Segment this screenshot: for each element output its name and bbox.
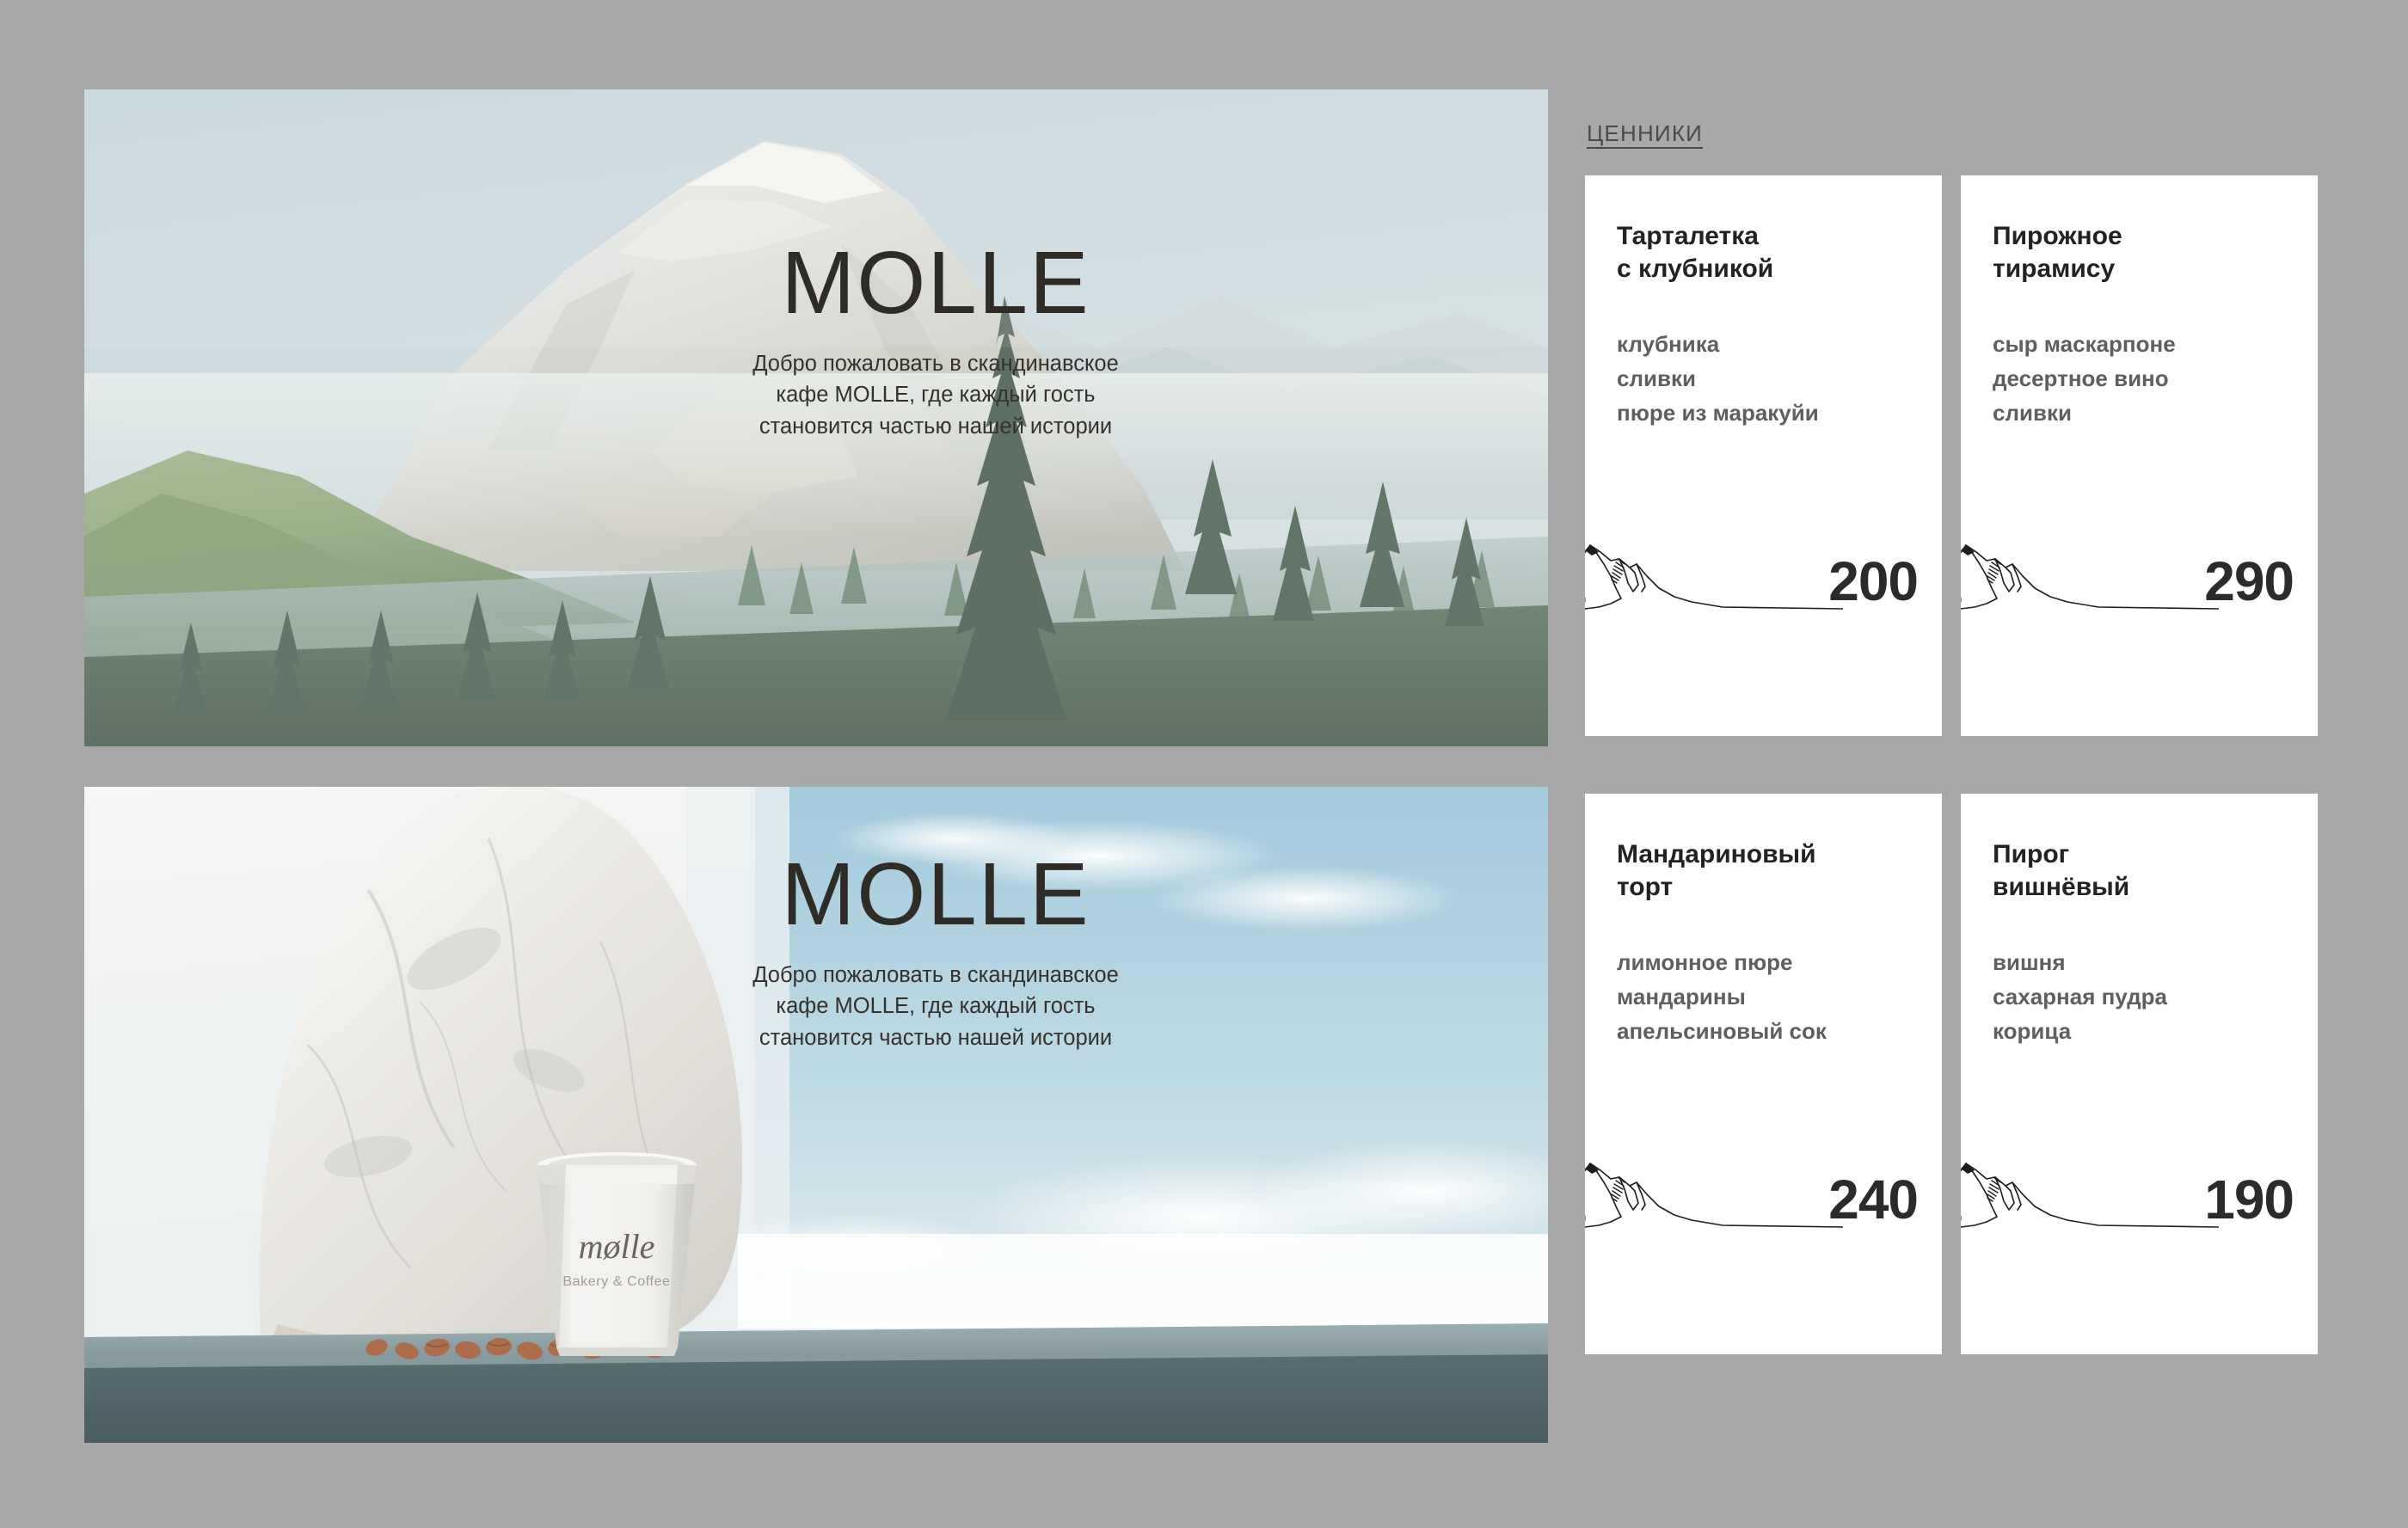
mountain-line-icon	[1961, 1157, 2219, 1260]
pricetag-ingredients: сыр маскарпоне десертное вино сливки	[1993, 327, 2318, 431]
pricetag-title-line-1: Пирожное	[1993, 220, 2318, 253]
pricetag-ingredients: клубника сливки пюре из маракуйи	[1617, 327, 1942, 431]
pricetag-title: Пирожное тирамису	[1993, 220, 2318, 286]
list-item: мандарины	[1617, 979, 1942, 1014]
marble-rock-coffee-cup-photo: mølle Bakery & Coffee	[84, 787, 1548, 1443]
pricetag-card-body: Пирог вишнёвый вишня сахарная пудра кори…	[1993, 838, 2318, 1354]
pricetag-price: 190	[2204, 1172, 2294, 1227]
list-item: лимонное пюре	[1617, 945, 1942, 979]
mountain-line-icon	[1961, 538, 2219, 641]
list-item: сливки	[1617, 361, 1942, 396]
pricetags-section: ЦЕННИКИ	[1585, 120, 2325, 170]
pricetag-footer: 290	[1961, 538, 2318, 659]
list-item: клубника	[1617, 327, 1942, 361]
mountain-line-icon	[1585, 538, 1843, 641]
slide-hero-mountain[interactable]: MOLLE Добро пожаловать в скандинавское к…	[84, 89, 1548, 746]
pricetag-ingredients: лимонное пюре мандарины апельсиновый сок	[1617, 945, 1942, 1049]
pricetag-ingredients: вишня сахарная пудра корица	[1993, 945, 2318, 1049]
mountain-line-icon	[1585, 1157, 1843, 1260]
pricetag-title-line-2: торт	[1617, 871, 1942, 904]
pricetag-title: Тарталетка с клубникой	[1617, 220, 1942, 286]
pricetag-title-line-2: с клубникой	[1617, 253, 1942, 285]
list-item: корица	[1993, 1014, 2318, 1048]
pricetag-price: 290	[2204, 554, 2294, 609]
pricetag-title-line-1: Тарталетка	[1617, 220, 1942, 253]
list-item: сливки	[1993, 396, 2318, 430]
list-item: десертное вино	[1993, 361, 2318, 396]
list-item: сыр маскарпоне	[1993, 327, 2318, 361]
pricetag-title-line-1: Мандариновый	[1617, 838, 1942, 871]
list-item: сахарная пудра	[1993, 979, 2318, 1014]
pricetag-footer: 190	[1961, 1157, 2318, 1277]
pricetag-card-body: Пирожное тирамису сыр маскарпоне десертн…	[1993, 220, 2318, 736]
list-item: вишня	[1993, 945, 2318, 979]
pricetag-card[interactable]: Мандариновый торт лимонное пюре мандарин…	[1585, 794, 1942, 1354]
pricetag-title-line-2: вишнёвый	[1993, 871, 2318, 904]
pricetag-card-body: Тарталетка с клубникой клубника сливки п…	[1617, 220, 1942, 736]
pricetag-title: Пирог вишнёвый	[1993, 838, 2318, 905]
pricetag-card[interactable]: Пирожное тирамису сыр маскарпоне десертн…	[1961, 175, 2318, 736]
list-item: апельсиновый сок	[1617, 1014, 1942, 1048]
pricetag-title-line-1: Пирог	[1993, 838, 2318, 871]
pricetag-card[interactable]: Пирог вишнёвый вишня сахарная пудра кори…	[1961, 794, 2318, 1354]
pricetag-card-grid: Тарталетка с клубникой клубника сливки п…	[1585, 175, 2318, 1354]
pricetag-title-line-2: тирамису	[1993, 253, 2318, 285]
pricetag-price: 200	[1828, 554, 1918, 609]
pricetag-card[interactable]: Тарталетка с клубникой клубника сливки п…	[1585, 175, 1942, 736]
presentation-board: MOLLE Добро пожаловать в скандинавское к…	[0, 0, 2408, 1528]
pricetag-price: 240	[1828, 1172, 1918, 1227]
pricetag-card-body: Мандариновый торт лимонное пюре мандарин…	[1617, 838, 1942, 1354]
pricetag-title: Мандариновый торт	[1617, 838, 1942, 905]
misty-mountain-forest-photo	[84, 89, 1548, 746]
pricetag-footer: 200	[1585, 538, 1942, 659]
pricetags-heading: ЦЕННИКИ	[1587, 120, 1703, 147]
slide-hero-cup[interactable]: mølle Bakery & Coffee MOLLE Добро пожало…	[84, 787, 1548, 1443]
pricetag-footer: 240	[1585, 1157, 1942, 1277]
list-item: пюре из маракуйи	[1617, 396, 1942, 430]
